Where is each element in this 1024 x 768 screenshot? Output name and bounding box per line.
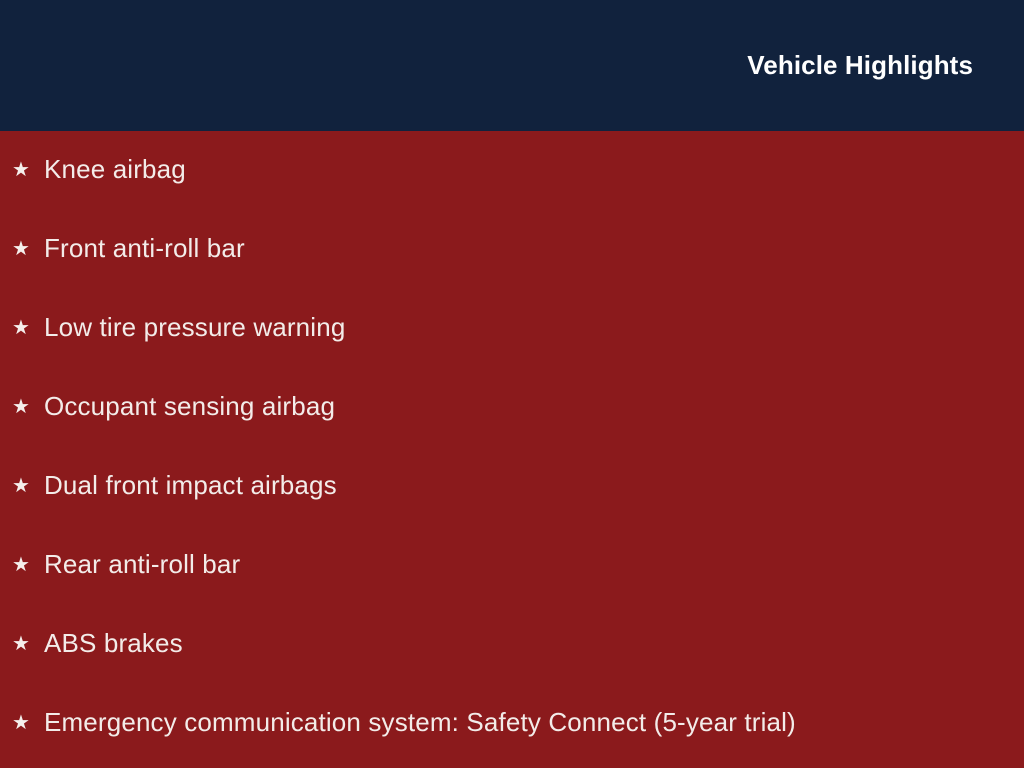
list-item-label: Dual front impact airbags (44, 471, 337, 501)
star-bullet-icon: ★ (12, 554, 44, 574)
list-item-label: Emergency communication system: Safety C… (44, 708, 796, 738)
list-item-label: ABS brakes (44, 629, 183, 659)
slide-header-band: Vehicle Highlights (0, 0, 1024, 131)
star-bullet-icon: ★ (12, 317, 44, 337)
list-item: ★ ABS brakes (0, 624, 1024, 664)
list-item: ★ Emergency communication system: Safety… (0, 703, 1024, 743)
list-item: ★ Knee airbag (0, 150, 1024, 190)
star-bullet-icon: ★ (12, 475, 44, 495)
list-item: ★ Rear anti-roll bar (0, 545, 1024, 585)
list-item: ★ Occupant sensing airbag (0, 387, 1024, 427)
star-bullet-icon: ★ (12, 238, 44, 258)
star-bullet-icon: ★ (12, 712, 44, 732)
list-item-label: Low tire pressure warning (44, 313, 345, 343)
list-item: ★ Front anti-roll bar (0, 229, 1024, 269)
vehicle-highlights-slide: Vehicle Highlights ★ Knee airbag ★ Front… (0, 0, 1024, 768)
list-item-label: Front anti-roll bar (44, 234, 245, 264)
list-item-label: Rear anti-roll bar (44, 550, 240, 580)
list-item: ★ Low tire pressure warning (0, 308, 1024, 348)
vehicle-highlights-list: ★ Knee airbag ★ Front anti-roll bar ★ Lo… (0, 131, 1024, 768)
star-bullet-icon: ★ (12, 159, 44, 179)
list-item-label: Occupant sensing airbag (44, 392, 335, 422)
list-item: ★ Dual front impact airbags (0, 466, 1024, 506)
list-item-label: Knee airbag (44, 155, 186, 185)
page-title: Vehicle Highlights (747, 52, 973, 78)
star-bullet-icon: ★ (12, 396, 44, 416)
star-bullet-icon: ★ (12, 633, 44, 653)
